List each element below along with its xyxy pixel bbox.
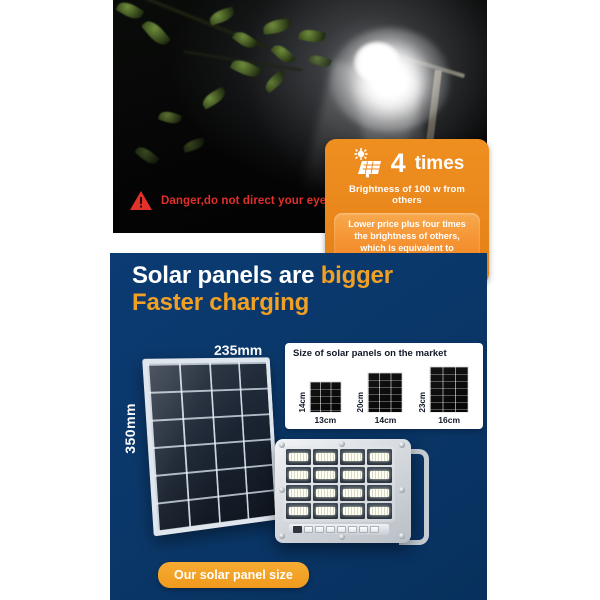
danger-warning: Danger,do not direct your eyes <box>129 190 333 211</box>
housing-screw <box>399 533 405 539</box>
headline-line-1: Solar panels are bigger <box>132 263 393 290</box>
control-button <box>370 526 379 533</box>
led-module <box>313 449 338 465</box>
market-panel-column: 13cm <box>309 381 342 425</box>
market-panel-height-label: 20cm <box>357 392 365 412</box>
solar-panel-surface <box>142 357 279 536</box>
market-panel-item: 23cm 16cm <box>419 366 469 425</box>
led-module <box>286 503 311 519</box>
product-solar-panel <box>148 359 296 537</box>
our-solar-panel-size-button[interactable]: Our solar panel size <box>158 562 309 588</box>
market-panel-width-label: 13cm <box>314 415 336 425</box>
badge-multiplier-unit: times <box>415 154 465 173</box>
lamp-core <box>354 42 400 82</box>
badge-multiplier-number: 4 <box>391 150 406 177</box>
control-button <box>326 526 335 533</box>
panel-height-dimension: 350mm <box>122 403 138 454</box>
headline-line-2: Faster charging <box>132 290 393 317</box>
control-button <box>304 526 313 533</box>
badge-subtitle: Brightness of 100 w from others <box>334 184 480 206</box>
led-module <box>313 467 338 483</box>
market-panel-row: 14cm 13cm 20cm 14cm 23cm 16cm <box>291 363 477 425</box>
solar-panel-sun-icon <box>350 148 384 178</box>
market-panel-width-label: 14cm <box>375 415 397 425</box>
market-panel-item: 20cm 14cm <box>357 372 403 425</box>
control-button <box>337 526 346 533</box>
led-module <box>286 467 311 483</box>
market-panel-width-label: 16cm <box>438 415 460 425</box>
led-module <box>313 485 338 501</box>
led-module <box>313 503 338 519</box>
lamp-glow <box>330 28 450 132</box>
housing-screw <box>339 534 345 540</box>
control-button <box>359 526 368 533</box>
market-panel-thumbnail <box>309 381 342 413</box>
market-panel-thumbnail <box>367 372 403 413</box>
floodlight-housing <box>275 439 411 543</box>
led-module <box>286 449 311 465</box>
floodlight-control-strip <box>289 524 389 535</box>
led-module <box>286 485 311 501</box>
led-module <box>340 485 365 501</box>
headline-line-1-orange: bigger <box>321 262 393 289</box>
housing-screw <box>279 442 285 448</box>
market-panel-item: 14cm 13cm <box>299 381 342 425</box>
panel-width-dimension: 235mm <box>214 342 262 358</box>
housing-screw <box>399 442 405 448</box>
floodlight-led-array <box>283 446 395 522</box>
led-floodlight-product <box>275 439 437 551</box>
housing-screw <box>339 441 345 447</box>
danger-warning-text: Danger,do not direct your eyes <box>161 195 333 207</box>
market-panel-column: 16cm <box>429 366 469 425</box>
led-module <box>367 467 392 483</box>
led-module <box>367 485 392 501</box>
market-panel-height-label: 23cm <box>419 392 427 412</box>
control-indicator-dark <box>293 526 302 533</box>
housing-screw <box>279 533 285 539</box>
led-module <box>340 503 365 519</box>
badge-headline-row: 4 times <box>334 148 480 178</box>
housing-screw <box>399 487 405 493</box>
market-panel-thumbnail <box>429 366 469 413</box>
led-module <box>340 467 365 483</box>
led-module <box>367 503 392 519</box>
warning-triangle-icon <box>129 190 153 211</box>
led-module <box>340 449 365 465</box>
solar-panel-info-panel: Solar panels are bigger Faster charging … <box>110 253 487 600</box>
housing-screw <box>279 487 285 493</box>
panel-glare <box>147 362 275 531</box>
market-panel-height-label: 14cm <box>299 392 307 412</box>
market-comparison-card: Size of solar panels on the market 14cm … <box>285 343 483 429</box>
headline-block: Solar panels are bigger Faster charging <box>132 263 393 317</box>
market-panel-column: 14cm <box>367 372 403 425</box>
led-module <box>367 449 392 465</box>
market-card-title: Size of solar panels on the market <box>293 348 447 359</box>
control-button <box>348 526 357 533</box>
headline-line-1-white: Solar panels are <box>132 262 321 289</box>
control-button <box>315 526 324 533</box>
